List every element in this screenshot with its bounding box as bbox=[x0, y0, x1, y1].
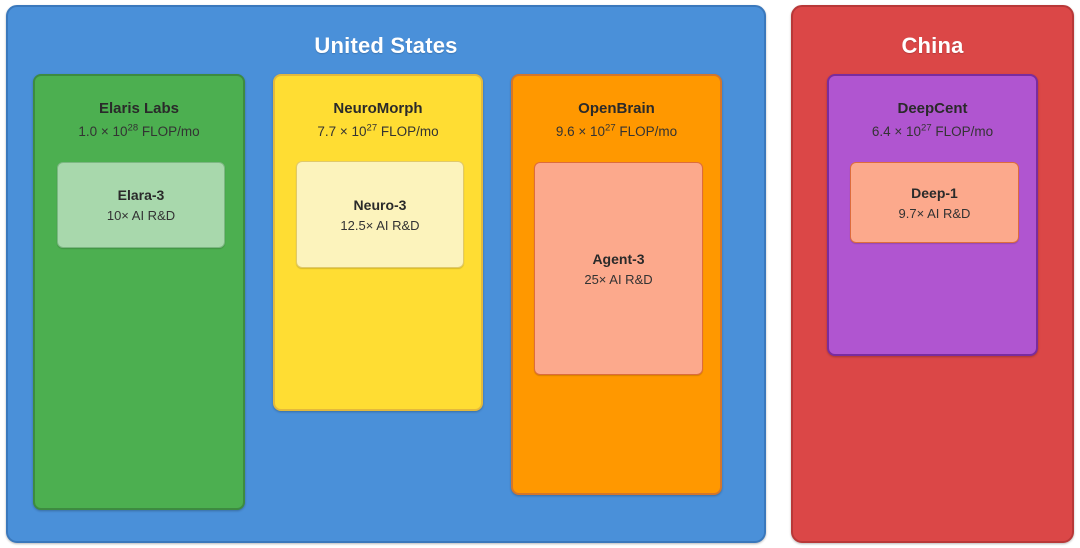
company-box-elaris-labs[interactable]: Elaris Labs1.0 × 1028 FLOP/moElara-310× … bbox=[33, 74, 245, 510]
model-name-neuro-3: Neuro-3 bbox=[354, 197, 407, 213]
company-name-elaris-labs: Elaris Labs bbox=[35, 100, 243, 117]
company-compute-deepcent: 6.4 × 1027 FLOP/mo bbox=[829, 124, 1036, 139]
company-compute-neuromorph: 7.7 × 1027 FLOP/mo bbox=[275, 124, 481, 139]
compute-mantissa: 6.4 × 10 bbox=[872, 124, 921, 139]
company-box-deepcent[interactable]: DeepCent6.4 × 1027 FLOP/moDeep-19.7× AI … bbox=[827, 74, 1038, 356]
compute-unit: FLOP/mo bbox=[932, 124, 994, 139]
compute-mantissa: 1.0 × 10 bbox=[78, 124, 127, 139]
model-multiplier-deep-1: 9.7× AI R&D bbox=[899, 206, 971, 221]
compute-unit: FLOP/mo bbox=[138, 124, 200, 139]
compute-mantissa: 9.6 × 10 bbox=[556, 124, 605, 139]
model-name-elara-3: Elara-3 bbox=[118, 187, 165, 203]
company-compute-elaris-labs: 1.0 × 1028 FLOP/mo bbox=[35, 124, 243, 139]
diagram-canvas: United StatesElaris Labs1.0 × 1028 FLOP/… bbox=[0, 0, 1080, 548]
compute-exponent: 28 bbox=[128, 123, 139, 134]
model-name-agent-3: Agent-3 bbox=[592, 251, 644, 267]
model-multiplier-elara-3: 10× AI R&D bbox=[107, 208, 175, 223]
compute-exponent: 27 bbox=[605, 123, 616, 134]
compute-exponent: 27 bbox=[367, 123, 378, 134]
model-box-elara-3[interactable]: Elara-310× AI R&D bbox=[57, 162, 225, 248]
compute-unit: FLOP/mo bbox=[616, 124, 678, 139]
company-name-deepcent: DeepCent bbox=[829, 100, 1036, 117]
model-box-agent-3[interactable]: Agent-325× AI R&D bbox=[534, 162, 703, 375]
country-box-united-states[interactable]: United StatesElaris Labs1.0 × 1028 FLOP/… bbox=[6, 5, 766, 543]
country-title-united-states: United States bbox=[8, 33, 764, 59]
company-name-neuromorph: NeuroMorph bbox=[275, 100, 481, 117]
company-name-openbrain: OpenBrain bbox=[513, 100, 720, 117]
company-compute-openbrain: 9.6 × 1027 FLOP/mo bbox=[513, 124, 720, 139]
compute-mantissa: 7.7 × 10 bbox=[317, 124, 366, 139]
country-title-china: China bbox=[793, 33, 1072, 59]
company-box-openbrain[interactable]: OpenBrain9.6 × 1027 FLOP/moAgent-325× AI… bbox=[511, 74, 722, 495]
compute-unit: FLOP/mo bbox=[377, 124, 439, 139]
model-multiplier-neuro-3: 12.5× AI R&D bbox=[340, 218, 419, 233]
model-multiplier-agent-3: 25× AI R&D bbox=[584, 272, 652, 287]
compute-exponent: 27 bbox=[921, 123, 932, 134]
company-box-neuromorph[interactable]: NeuroMorph7.7 × 1027 FLOP/moNeuro-312.5×… bbox=[273, 74, 483, 411]
country-box-china[interactable]: ChinaDeepCent6.4 × 1027 FLOP/moDeep-19.7… bbox=[791, 5, 1074, 543]
model-name-deep-1: Deep-1 bbox=[911, 185, 958, 201]
model-box-deep-1[interactable]: Deep-19.7× AI R&D bbox=[850, 162, 1019, 243]
model-box-neuro-3[interactable]: Neuro-312.5× AI R&D bbox=[296, 161, 464, 268]
